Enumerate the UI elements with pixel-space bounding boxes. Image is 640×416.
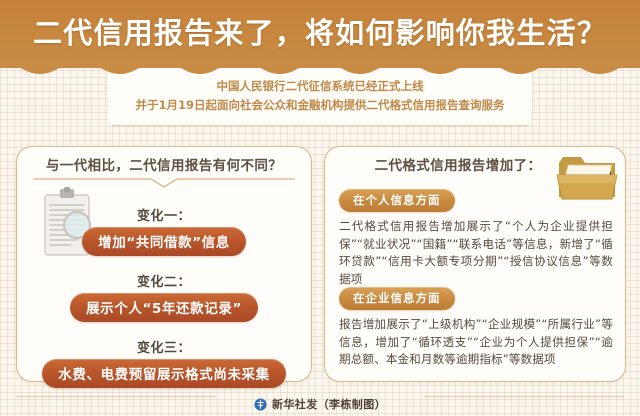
subtitle-line-2: 并于1月19日起面向社会公众和金融机构提供二代格式信用报告查询服务 — [135, 96, 504, 115]
subtitle-divider — [112, 125, 528, 126]
footer-credit-text: 新华社发（李栋制图） — [272, 396, 386, 412]
change-pill-1[interactable]: 增加“共同借款”信息 — [82, 227, 246, 256]
change-item-1: 变化一： 增加“共同借款”信息 — [17, 205, 311, 256]
xinhua-logo-icon — [254, 398, 267, 411]
subtitle-line-1: 中国人民银行二代征信系统已经正式上线 — [217, 77, 424, 96]
change-label-2: 变化二： — [17, 271, 311, 290]
change-label-3: 变化三： — [17, 337, 311, 356]
change-pill-3[interactable]: 水费、电费预留展示格式尚未采集 — [42, 359, 286, 388]
section-badge-personal[interactable]: 在个人信息方面 — [339, 189, 455, 212]
change-item-2: 变化二： 展示个人“5年还款记录” — [17, 271, 311, 322]
change-pill-2[interactable]: 展示个人“5年还款记录” — [70, 293, 258, 322]
section-badge-enterprise[interactable]: 在企业信息方面 — [339, 287, 455, 310]
section-enterprise: 在企业信息方面 报告增加展示了“上级机构”“企业规模”“所属行业”等信息，增加了… — [339, 287, 613, 369]
infographic-root: 二代信用报告来了，将如何影响你我生活？ 中国人民银行二代征信系统已经正式上线 并… — [0, 0, 640, 416]
left-panel: 与一代相比，二代信用报告有何不同？ 变化一： — [16, 146, 312, 382]
footer-credit-bar: 新华社发（李栋制图） — [0, 392, 640, 416]
right-panel: 二代格式信用报告增加了： 在个人信息方面 二代格式信用报告增加展示了“个人为企业… — [324, 146, 626, 382]
header-scallop-edge — [0, 60, 640, 76]
section-body-enterprise: 报告增加展示了“上级机构”“企业规模”“所属行业”等信息，增加了“循环透支”“企… — [339, 316, 613, 369]
left-panel-title: 与一代相比，二代信用报告有何不同？ — [17, 154, 311, 174]
change-label-1: 变化一： — [17, 205, 311, 224]
section-body-personal: 二代格式信用报告增加展示了“个人为企业提供担保”“就业状况”“国籍”“联系电话”… — [339, 218, 613, 288]
page-title: 二代信用报告来了，将如何影响你我生活？ — [0, 0, 640, 62]
change-item-3: 变化三： 水费、电费预留展示格式尚未采集 — [17, 337, 311, 388]
section-personal: 在个人信息方面 二代格式信用报告增加展示了“个人为企业提供担保”“就业状况”“国… — [339, 189, 613, 288]
